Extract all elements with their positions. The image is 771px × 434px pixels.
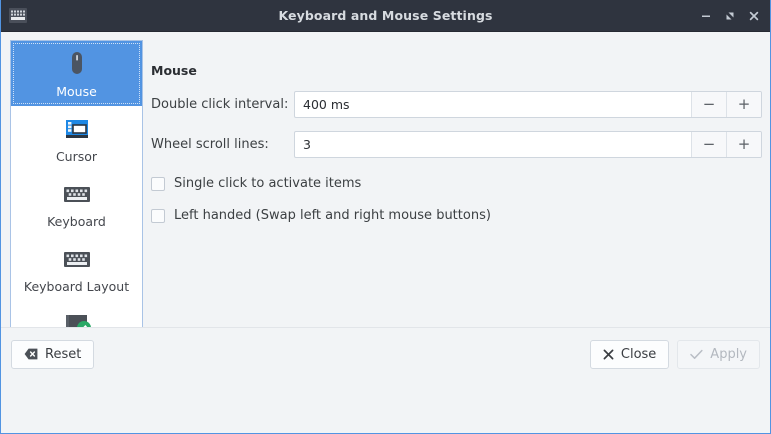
- left-handed-checkbox[interactable]: [151, 209, 165, 223]
- wheel-scroll-lines-decrement-button[interactable]: −: [691, 132, 726, 157]
- close-button[interactable]: [742, 1, 766, 31]
- sidebar-item-label: Mouse: [56, 84, 97, 99]
- wheel-scroll-lines-row: Wheel scroll lines: − +: [151, 131, 762, 158]
- checkmark-icon: [690, 349, 703, 360]
- left-handed-checkbox-label: Left handed (Swap left and right mouse b…: [174, 208, 491, 224]
- wheel-scroll-lines-increment-button[interactable]: +: [726, 132, 761, 157]
- content-area: Mouse Cursor: [1, 32, 770, 380]
- close-icon: [603, 349, 614, 360]
- category-list[interactable]: Mouse Cursor: [10, 40, 143, 374]
- settings-window: Keyboard and Mouse Settings: [0, 0, 771, 434]
- keyboard-icon: [9, 7, 27, 24]
- double-click-interval-row: Double click interval: − +: [151, 91, 762, 118]
- sidebar-item-cursor[interactable]: Cursor: [11, 106, 142, 171]
- keyboard-icon: [60, 177, 94, 211]
- single-click-checkbox[interactable]: [151, 177, 165, 191]
- window-controls: [694, 0, 766, 32]
- wheel-scroll-lines-input[interactable]: [295, 132, 691, 157]
- double-click-interval-input[interactable]: [295, 92, 691, 117]
- sidebar-item-label: Keyboard Layout: [24, 279, 129, 294]
- double-click-interval-increment-button[interactable]: +: [726, 92, 761, 117]
- sidebar-item-keyboard[interactable]: Keyboard: [11, 171, 142, 236]
- single-click-checkbox-label: Single click to activate items: [174, 176, 361, 192]
- wheel-scroll-lines-label: Wheel scroll lines:: [151, 137, 294, 153]
- keyboard-layout-icon: [60, 242, 94, 276]
- footer-actions: Close Apply: [590, 340, 760, 369]
- reset-button-label: Reset: [45, 347, 81, 362]
- backspace-icon: [24, 348, 38, 360]
- sidebar-item-label: Cursor: [56, 149, 97, 164]
- sidebar-item-label: Keyboard: [47, 214, 106, 229]
- cursor-window-icon: [60, 112, 94, 146]
- double-click-interval-spinbox[interactable]: − +: [294, 91, 762, 118]
- single-click-checkbox-row[interactable]: Single click to activate items: [151, 176, 762, 192]
- mouse-settings-panel: Mouse Double click interval: − + Wheel s…: [151, 40, 762, 224]
- close-button[interactable]: Close: [590, 340, 669, 369]
- mouse-icon: [60, 47, 94, 81]
- left-handed-checkbox-row[interactable]: Left handed (Swap left and right mouse b…: [151, 208, 762, 224]
- dialog-button-bar: Reset Close: [1, 327, 770, 380]
- sidebar-item-mouse[interactable]: Mouse: [11, 41, 142, 106]
- apply-button[interactable]: Apply: [677, 340, 760, 369]
- wheel-scroll-lines-spinbox[interactable]: − +: [294, 131, 762, 158]
- minimize-button[interactable]: [694, 1, 718, 31]
- title-bar[interactable]: Keyboard and Mouse Settings: [1, 0, 770, 32]
- double-click-interval-label: Double click interval:: [151, 97, 294, 113]
- close-button-label: Close: [621, 347, 656, 362]
- sidebar-item-keyboard-layout[interactable]: Keyboard Layout: [11, 236, 142, 301]
- double-click-interval-decrement-button[interactable]: −: [691, 92, 726, 117]
- maximize-button[interactable]: [718, 1, 742, 31]
- window-title: Keyboard and Mouse Settings: [1, 0, 770, 32]
- apply-button-label: Apply: [710, 347, 747, 362]
- reset-button[interactable]: Reset: [11, 340, 94, 369]
- page-title: Mouse: [151, 64, 762, 78]
